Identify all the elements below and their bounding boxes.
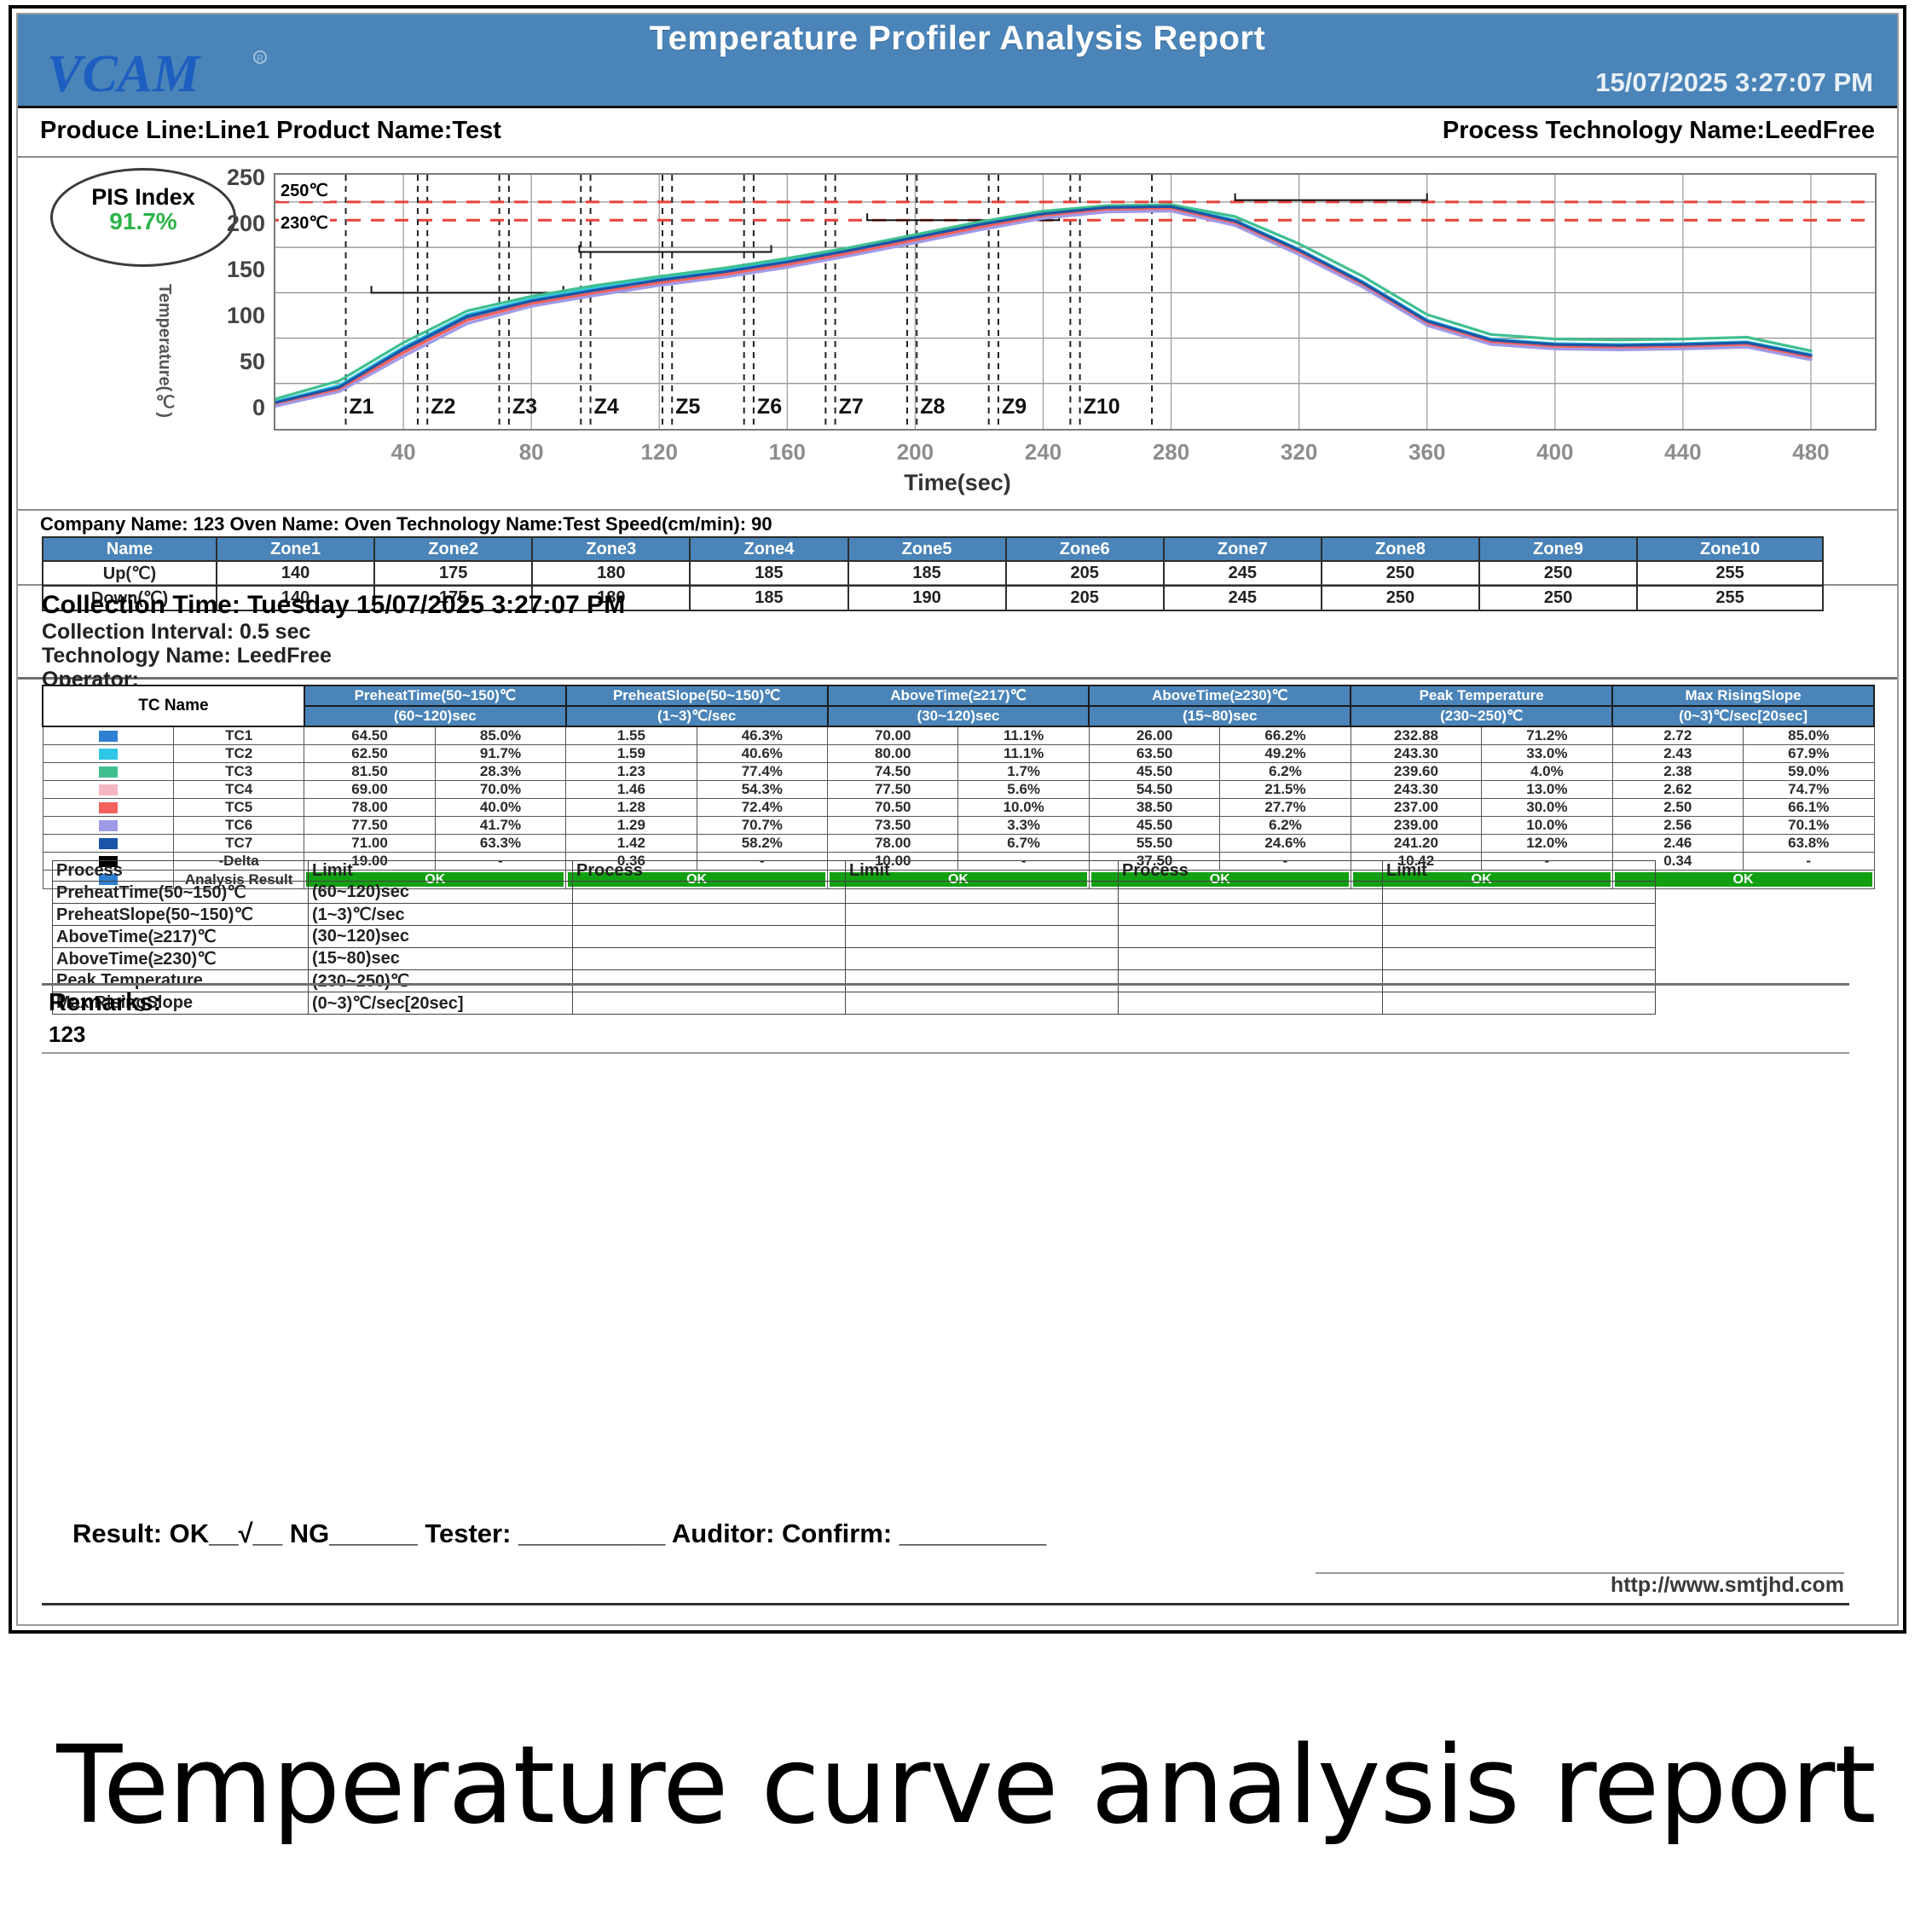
y-tick-200: 200 (180, 211, 265, 237)
table-row: PreheatTime(50~150)℃(60~120)sec (53, 882, 1656, 904)
zone-label-z10: Z10 (1084, 395, 1120, 419)
zone-col-zone2: Zone2 (374, 537, 532, 561)
tc-color-swatch (43, 799, 173, 817)
table-row: TC381.5028.3%1.2377.4%74.501.7%45.506.2%… (43, 763, 1874, 781)
tc-value-cell: 2.62 (1612, 781, 1743, 799)
tc-value-cell: 30.0% (1482, 799, 1612, 817)
process-limit-header-1: Limit (309, 861, 573, 882)
swatch-icon (99, 802, 118, 813)
tc-value-cell: 49.2% (1220, 745, 1351, 763)
tc-results-table: TC NamePreheatTime(50~150)℃PreheatSlope(… (42, 685, 1875, 889)
collection-interval: Collection Interval: 0.5 sec (42, 620, 1897, 644)
collection-info: Collection Time: Tuesday 15/07/2025 3:27… (18, 587, 1897, 680)
y-axis-title: Temperature(℃) (146, 284, 175, 418)
tc-value-cell: 26.00 (1089, 726, 1219, 745)
tc-value-cell: 2.56 (1612, 817, 1743, 835)
tc-value-cell: 239.60 (1351, 763, 1481, 781)
tc-value-cell: 85.0% (1743, 726, 1874, 745)
y-axis-ticks: 250 200 150 100 50 0 (180, 158, 265, 448)
tc-value-cell: 6.2% (1220, 817, 1351, 835)
tc-value-cell: 74.50 (828, 763, 958, 781)
tc-row-name: TC3 (173, 763, 304, 781)
process-empty-cell[interactable] (846, 904, 1119, 926)
zone-value-cell: 255 (1637, 561, 1823, 586)
process-name-cell: PreheatTime(50~150)℃ (53, 882, 309, 904)
process-limit-header-5: Limit (1383, 861, 1656, 882)
zone-label-z8: Z8 (920, 395, 945, 419)
tc-value-cell: 40.0% (435, 799, 565, 817)
process-limit-cell: (1~3)℃/sec (309, 904, 573, 926)
table-row: TC578.0040.0%1.2872.4%70.5010.0%38.5027.… (43, 799, 1874, 817)
swatch-icon (99, 820, 118, 831)
process-limit-cell: (15~80)sec (309, 948, 573, 970)
table-row: AboveTime(≥230)℃(15~80)sec (53, 948, 1656, 970)
tc-row-name: TC4 (173, 781, 304, 799)
tc-value-cell: 85.0% (435, 726, 565, 745)
tc-value-cell: 237.00 (1351, 799, 1481, 817)
zone-value-cell: 185 (848, 561, 1006, 586)
page-title: Temperature Profiler Analysis Report (18, 20, 1897, 58)
tc-value-cell: 72.4% (697, 799, 827, 817)
tc-value-cell: 24.6% (1220, 835, 1351, 853)
tc-value-cell: 5.6% (958, 781, 1089, 799)
zone-value-cell: 140 (217, 561, 374, 586)
y-tick-50: 50 (180, 349, 265, 375)
swatch-icon (99, 784, 118, 795)
tc-value-cell: 71.00 (304, 835, 435, 853)
page-root: VCAM R Temperature Profiler Analysis Rep… (0, 0, 1932, 1932)
tc-group-limit-1: (1~3)℃/sec (566, 706, 828, 726)
tc-color-swatch (43, 726, 173, 745)
zone-value-cell: 250 (1322, 561, 1479, 586)
tc-value-cell: 78.00 (828, 835, 958, 853)
tc-value-cell: 2.46 (1612, 835, 1743, 853)
zone-col-zone9: Zone9 (1479, 537, 1637, 561)
tc-value-cell: 3.3% (958, 817, 1089, 835)
tc-value-cell: 6.2% (1220, 763, 1351, 781)
zone-label-z5: Z5 (675, 395, 700, 419)
title-bar: VCAM R Temperature Profiler Analysis Rep… (18, 14, 1897, 108)
tc-value-cell: 241.20 (1351, 835, 1481, 853)
process-empty-cell[interactable] (846, 948, 1119, 970)
zone-value-cell: 205 (1006, 561, 1164, 586)
ref-line-label-250: 250℃ (279, 180, 330, 201)
x-axis-ticks: 4080120160200240280320360400440480 (274, 439, 1877, 468)
tc-value-cell: 1.29 (566, 817, 697, 835)
tc-value-cell: 21.5% (1220, 781, 1351, 799)
tc-value-cell: 78.00 (304, 799, 435, 817)
tc-value-cell: 1.46 (566, 781, 697, 799)
footer-url[interactable]: http://www.smtjhd.com (1611, 1573, 1844, 1598)
zone-label-z6: Z6 (757, 395, 782, 419)
x-tick-360: 360 (1409, 439, 1445, 466)
table-row: TC771.0063.3%1.4258.2%78.006.7%55.5024.6… (43, 835, 1874, 853)
process-technology-label: Process Technology Name:LeedFree (1443, 117, 1875, 145)
tc-value-cell: 10.0% (1482, 817, 1612, 835)
profile-chart: PIS Index 91.7% Temperature(℃) 250 200 1… (18, 158, 1897, 507)
tc-value-cell: 71.2% (1482, 726, 1612, 745)
process-empty-cell[interactable] (1119, 882, 1383, 904)
zone-col-zone8: Zone8 (1322, 537, 1479, 561)
tc-value-cell: 67.9% (1743, 745, 1874, 763)
tc-value-cell: 1.55 (566, 726, 697, 745)
remarks-label: Remarks: (49, 989, 161, 1017)
oven-info-line: Company Name: 123 Oven Name: Oven Techno… (40, 513, 772, 535)
process-limit-header-2: Process (573, 861, 846, 882)
process-limit-header-0: Process (53, 861, 309, 882)
remarks-section: Remarks: 123 Result: OK__√__ NG______ Te… (42, 983, 1849, 1605)
process-empty-cell[interactable] (1119, 904, 1383, 926)
process-empty-cell[interactable] (1383, 948, 1656, 970)
tc-value-cell: 64.50 (304, 726, 435, 745)
zone-value-cell: 180 (532, 561, 690, 586)
table-row: TC262.5091.7%1.5940.6%80.0011.1%63.5049.… (43, 745, 1874, 763)
tc-value-cell: 66.2% (1220, 726, 1351, 745)
tc-value-cell: 58.2% (697, 835, 827, 853)
zone-col-zone3: Zone3 (532, 537, 690, 561)
zone-label-z2: Z2 (431, 395, 455, 419)
tc-value-cell: 243.30 (1351, 745, 1481, 763)
chart-canvas (275, 175, 1875, 429)
x-tick-120: 120 (641, 439, 678, 466)
oven-zone-block: Company Name: 123 Oven Name: Oven Techno… (18, 509, 1897, 586)
tc-row-name: TC6 (173, 817, 304, 835)
process-empty-cell[interactable] (846, 882, 1119, 904)
tc-group-limit-3: (15~80)sec (1089, 706, 1351, 726)
tc-value-cell: - (1743, 853, 1874, 871)
process-limit-cell: (60~120)sec (309, 882, 573, 904)
tc-value-cell: 1.23 (566, 763, 697, 781)
x-tick-240: 240 (1025, 439, 1061, 466)
tc-color-swatch (43, 763, 173, 781)
zone-col-zone7: Zone7 (1164, 537, 1322, 561)
tc-value-cell: 59.0% (1743, 763, 1874, 781)
table-row: Up(℃)140175180185185205245250250255 (43, 561, 1823, 586)
tc-group-limit-2: (30~120)sec (828, 706, 1090, 726)
tc-value-cell: 12.0% (1482, 835, 1612, 853)
zone-label-z1: Z1 (350, 395, 374, 419)
tc-color-swatch (43, 745, 173, 763)
tc-value-cell: 74.7% (1743, 781, 1874, 799)
tc-value-cell: 66.1% (1743, 799, 1874, 817)
tc-value-cell: 11.1% (958, 745, 1089, 763)
tc-value-cell: 1.42 (566, 835, 697, 853)
tc-value-cell: 81.50 (304, 763, 435, 781)
tc-value-cell: 11.1% (958, 726, 1089, 745)
tc-row-name: TC1 (173, 726, 304, 745)
ref-line-label-230: 230℃ (279, 212, 330, 234)
process-empty-cell[interactable] (573, 948, 846, 970)
tc-color-swatch (43, 781, 173, 799)
tc-value-cell: 69.00 (304, 781, 435, 799)
y-tick-150: 150 (180, 257, 265, 283)
produce-line-label: Produce Line:Line1 Product Name:Test (40, 117, 501, 145)
x-tick-40: 40 (391, 439, 416, 466)
table-row: AboveTime(≥217)℃(30~120)sec (53, 926, 1656, 948)
tc-color-swatch (43, 835, 173, 853)
tc-value-cell: 80.00 (828, 745, 958, 763)
x-tick-80: 80 (519, 439, 544, 466)
zone-label-z3: Z3 (512, 395, 537, 419)
tc-group-header-row: TC NamePreheatTime(50~150)℃PreheatSlope(… (43, 685, 1874, 706)
oven-zone-header-row: NameZone1Zone2Zone3Zone4Zone5Zone6Zone7Z… (43, 537, 1823, 561)
figure-caption: Temperature curve analysis report (0, 1722, 1932, 1848)
tc-value-cell: 70.50 (828, 799, 958, 817)
x-tick-480: 480 (1792, 439, 1829, 466)
tc-group-header-1: PreheatSlope(50~150)℃ (566, 685, 828, 706)
tc-value-cell: 70.00 (828, 726, 958, 745)
tc-value-cell: 77.4% (697, 763, 827, 781)
process-empty-cell[interactable] (1383, 926, 1656, 948)
tc-value-cell: 45.50 (1089, 817, 1219, 835)
tc-value-cell: 10.0% (958, 799, 1089, 817)
tc-value-cell: 1.7% (958, 763, 1089, 781)
tc-value-cell: 13.0% (1482, 781, 1612, 799)
tc-value-cell: 2.38 (1612, 763, 1743, 781)
tc-value-cell: 63.50 (1089, 745, 1219, 763)
y-tick-0: 0 (180, 395, 265, 421)
tc-group-limit-4: (230~250)℃ (1351, 706, 1612, 726)
y-tick-100: 100 (180, 303, 265, 329)
zone-col-zone5: Zone5 (848, 537, 1006, 561)
tc-limit-header-row: (60~120)sec(1~3)℃/sec(30~120)sec(15~80)s… (43, 706, 1874, 726)
tc-value-cell: 62.50 (304, 745, 435, 763)
tc-value-cell: 27.7% (1220, 799, 1351, 817)
zone-col-name: Name (43, 537, 217, 561)
tc-value-cell: 55.50 (1089, 835, 1219, 853)
swatch-icon (99, 731, 118, 742)
x-tick-400: 400 (1536, 439, 1573, 466)
tc-value-cell: 77.50 (304, 817, 435, 835)
report-inner-frame: VCAM R Temperature Profiler Analysis Rep… (16, 13, 1899, 1626)
tc-group-header-5: Max RisingSlope (1612, 685, 1874, 706)
zone-value-cell: 185 (690, 561, 847, 586)
process-empty-cell[interactable] (573, 926, 846, 948)
zone-value-cell: 245 (1164, 561, 1322, 586)
tc-name-header: TC Name (43, 685, 304, 726)
zone-col-zone10: Zone10 (1637, 537, 1823, 561)
tc-value-cell: 40.6% (697, 745, 827, 763)
tc-row-name: TC5 (173, 799, 304, 817)
tc-color-swatch (43, 817, 173, 835)
tc-value-cell: 38.50 (1089, 799, 1219, 817)
x-axis-title: Time(sec) (18, 470, 1897, 496)
line-header: Produce Line:Line1 Product Name:Test Pro… (18, 110, 1897, 158)
process-limit-header-row: ProcessLimitProcessLimitProcessLimit (53, 861, 1656, 882)
tc-group-limit-0: (60~120)sec (304, 706, 566, 726)
tc-row-name: TC2 (173, 745, 304, 763)
process-empty-cell[interactable] (1383, 904, 1656, 926)
process-empty-cell[interactable] (1119, 926, 1383, 948)
tc-value-cell: 70.0% (435, 781, 565, 799)
swatch-icon (99, 838, 118, 849)
process-empty-cell[interactable] (573, 882, 846, 904)
process-name-cell: PreheatSlope(50~150)℃ (53, 904, 309, 926)
tc-value-cell: 77.50 (828, 781, 958, 799)
tc-value-cell: 232.88 (1351, 726, 1481, 745)
process-limit-header-4: Process (1119, 861, 1383, 882)
x-tick-160: 160 (769, 439, 806, 466)
process-empty-cell[interactable] (573, 904, 846, 926)
collection-time: Collection Time: Tuesday 15/07/2025 3:27… (42, 591, 1897, 620)
tc-value-cell: 1.28 (566, 799, 697, 817)
tc-group-limit-5: (0~3)℃/sec[20sec] (1612, 706, 1874, 726)
tc-value-cell: 6.7% (958, 835, 1089, 853)
zone-label-z4: Z4 (594, 395, 619, 419)
tc-value-cell: 2.72 (1612, 726, 1743, 745)
tc-value-cell: 239.00 (1351, 817, 1481, 835)
y-tick-250: 250 (180, 165, 265, 191)
tc-value-cell: 91.7% (435, 745, 565, 763)
zone-col-zone1: Zone1 (217, 537, 374, 561)
table-row: TC677.5041.7%1.2970.7%73.503.3%45.506.2%… (43, 817, 1874, 835)
tc-value-cell: 63.3% (435, 835, 565, 853)
tc-value-cell: 2.50 (1612, 799, 1743, 817)
tc-row-name: TC7 (173, 835, 304, 853)
process-name-cell: AboveTime(≥230)℃ (53, 948, 309, 970)
x-tick-280: 280 (1153, 439, 1189, 466)
zone-value-cell: 250 (1479, 561, 1637, 586)
tc-value-cell: 70.1% (1743, 817, 1874, 835)
x-tick-440: 440 (1664, 439, 1701, 466)
tc-value-cell: 1.59 (566, 745, 697, 763)
tc-group-header-4: Peak Temperature (1351, 685, 1612, 706)
tc-value-cell: 33.0% (1482, 745, 1612, 763)
zone-label-z7: Z7 (839, 395, 864, 419)
tc-value-cell: 70.7% (697, 817, 827, 835)
tc-value-cell: 45.50 (1089, 763, 1219, 781)
process-empty-cell[interactable] (1383, 882, 1656, 904)
tc-value-cell: 243.30 (1351, 781, 1481, 799)
zone-value-cell: 175 (374, 561, 532, 586)
result-signature-line: Result: OK__√__ NG______ Tester: _______… (72, 1518, 1046, 1549)
table-row: TC164.5085.0%1.5546.3%70.0011.1%26.0066.… (43, 726, 1874, 745)
report-frame: VCAM R Temperature Profiler Analysis Rep… (9, 5, 1906, 1634)
process-limit-cell: (30~120)sec (309, 926, 573, 948)
zone-col-zone4: Zone4 (690, 537, 847, 561)
tc-value-cell: 2.43 (1612, 745, 1743, 763)
tc-value-cell: 54.3% (697, 781, 827, 799)
x-tick-200: 200 (897, 439, 934, 466)
tc-value-cell: 73.50 (828, 817, 958, 835)
tc-group-header-3: AboveTime(≥230)℃ (1089, 685, 1351, 706)
table-row: TC469.0070.0%1.4654.3%77.505.6%54.5021.5… (43, 781, 1874, 799)
remarks-divider (42, 1052, 1849, 1054)
process-empty-cell[interactable] (1119, 948, 1383, 970)
swatch-icon (99, 749, 118, 760)
tc-value-cell: 63.8% (1743, 835, 1874, 853)
remarks-value[interactable]: 123 (49, 1021, 85, 1048)
plot-area: 250℃ 230℃ Z1Z2Z3Z4Z5Z6Z7Z8Z9Z10 (274, 173, 1877, 431)
tc-group-header-2: AboveTime(≥217)℃ (828, 685, 1090, 706)
process-name-cell: AboveTime(≥217)℃ (53, 926, 309, 948)
zone-row-name: Up(℃) (43, 561, 217, 586)
tc-value-cell: 4.0% (1482, 763, 1612, 781)
zone-label-z9: Z9 (1002, 395, 1027, 419)
swatch-icon (99, 766, 118, 778)
process-limit-header-3: Limit (846, 861, 1119, 882)
tc-value-cell: 54.50 (1089, 781, 1219, 799)
zone-col-zone6: Zone6 (1006, 537, 1164, 561)
tc-group-header-0: PreheatTime(50~150)℃ (304, 685, 566, 706)
tc-value-cell: 41.7% (435, 817, 565, 835)
tc-value-cell: 46.3% (697, 726, 827, 745)
process-empty-cell[interactable] (846, 926, 1119, 948)
report-datetime: 15/07/2025 3:27:07 PM (1595, 67, 1873, 98)
table-row: PreheatSlope(50~150)℃(1~3)℃/sec (53, 904, 1656, 926)
x-tick-320: 320 (1281, 439, 1317, 466)
tc-value-cell: 28.3% (435, 763, 565, 781)
technology-name: Technology Name: LeedFree (42, 644, 1897, 668)
